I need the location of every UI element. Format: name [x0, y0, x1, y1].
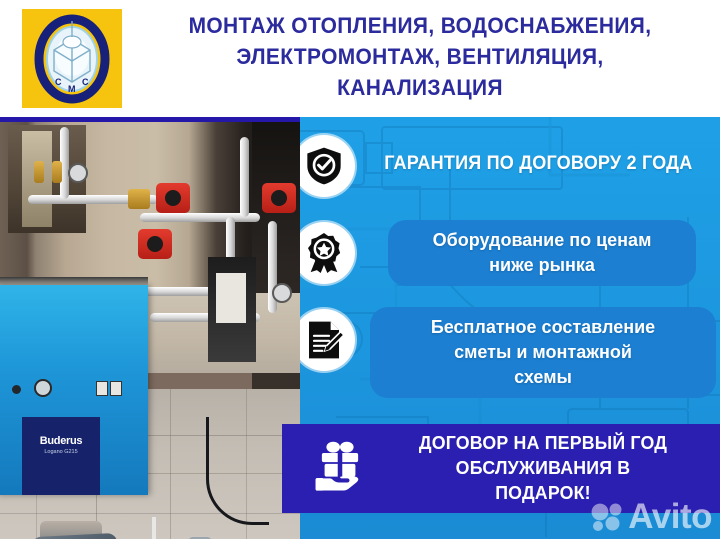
- page-title-line-1: МОНТАЖ ОТОПЛЕНИЯ, ВОДОСНАБЖЕНИЯ,: [150, 10, 689, 41]
- logo-letter-left: С: [55, 77, 62, 87]
- gift-banner-line2: ОБСЛУЖИВАНИЯ В: [385, 455, 702, 480]
- sms-logo-icon: С М С: [22, 9, 122, 108]
- gift-banner-text: ДОГОВОР НА ПЕРВЫЙ ГОД ОБСЛУЖИВАНИЯ В ПОД…: [385, 430, 702, 505]
- award-medal-glyph: [304, 233, 344, 273]
- photo-boiler-button: [12, 385, 21, 394]
- document-edit-glyph: [304, 320, 344, 360]
- company-logo: С М С: [22, 9, 122, 108]
- shield-check-glyph: [304, 146, 344, 186]
- boiler-model-label: Logano G215: [22, 449, 100, 455]
- gift-in-hand-glyph: [311, 439, 369, 497]
- photo-top-divider: [0, 117, 300, 122]
- feature-text-equipment-line2: ниже рынка: [433, 253, 652, 278]
- page-title-line-2: ЭЛЕКТРОМОНТАЖ, ВЕНТИЛЯЦИЯ,: [150, 41, 689, 72]
- photo-hose: [152, 517, 204, 539]
- feature-text-equipment-line1: Оборудование по ценам: [433, 228, 652, 253]
- photo-brass-fitting: [128, 189, 150, 209]
- photo-circulation-pump: [262, 183, 296, 213]
- avito-watermark: Avito: [591, 499, 712, 534]
- feature-pill-equipment: Оборудование по ценам ниже рынка: [388, 220, 696, 286]
- avito-wordmark: Avito: [628, 499, 712, 534]
- feature-text-estimate-line3: схемы: [431, 365, 655, 390]
- advertisement-banner: С М С МОНТАЖ ОТОПЛЕНИЯ, ВОДОСНАБЖЕНИЯ, Э…: [0, 0, 720, 539]
- feature-text-estimate-line2: сметы и монтажной: [431, 340, 655, 365]
- photo-circulation-pump: [156, 183, 190, 213]
- gift-banner-line1: ДОГОВОР НА ПЕРВЫЙ ГОД: [385, 430, 702, 455]
- gift-in-hand-icon: [308, 436, 372, 500]
- photo-pressure-gauge: [272, 283, 292, 303]
- page-title-line-3: КАНАЛИЗАЦИЯ: [150, 72, 689, 103]
- photo-manifold-label: [216, 273, 246, 323]
- logo-letter-center: М: [68, 84, 76, 94]
- boiler-room-photo: Buderus Logano G215: [0, 117, 300, 539]
- photo-boiler-switch: [110, 381, 122, 396]
- photo-brass-fitting: [52, 161, 62, 183]
- banner-header: С М С МОНТАЖ ОТОПЛЕНИЯ, ВОДОСНАБЖЕНИЯ, Э…: [0, 0, 720, 117]
- photo-boiler-badge: Buderus Logano G215: [22, 417, 100, 495]
- logo-letter-right: С: [82, 77, 89, 87]
- feature-text-guarantee: ГАРАНТИЯ ПО ДОГОВОРУ 2 ГОДА: [374, 153, 703, 175]
- photo-brass-fitting: [34, 161, 44, 183]
- photo-boiler-switch: [96, 381, 108, 396]
- photo-boiler-knob: [34, 379, 52, 397]
- feature-text-estimate-line1: Бесплатное составление: [431, 315, 655, 340]
- photo-circulation-pump: [138, 229, 172, 259]
- photo-pipe: [240, 137, 249, 217]
- boiler-brand-label: Buderus: [22, 435, 100, 447]
- avito-dots-icon: [591, 503, 623, 531]
- feature-pill-estimate: Бесплатное составление сметы и монтажной…: [370, 307, 716, 398]
- header-title-group: МОНТАЖ ОТОПЛЕНИЯ, ВОДОСНАБЖЕНИЯ, ЭЛЕКТРО…: [130, 10, 710, 103]
- photo-pressure-gauge: [68, 163, 88, 183]
